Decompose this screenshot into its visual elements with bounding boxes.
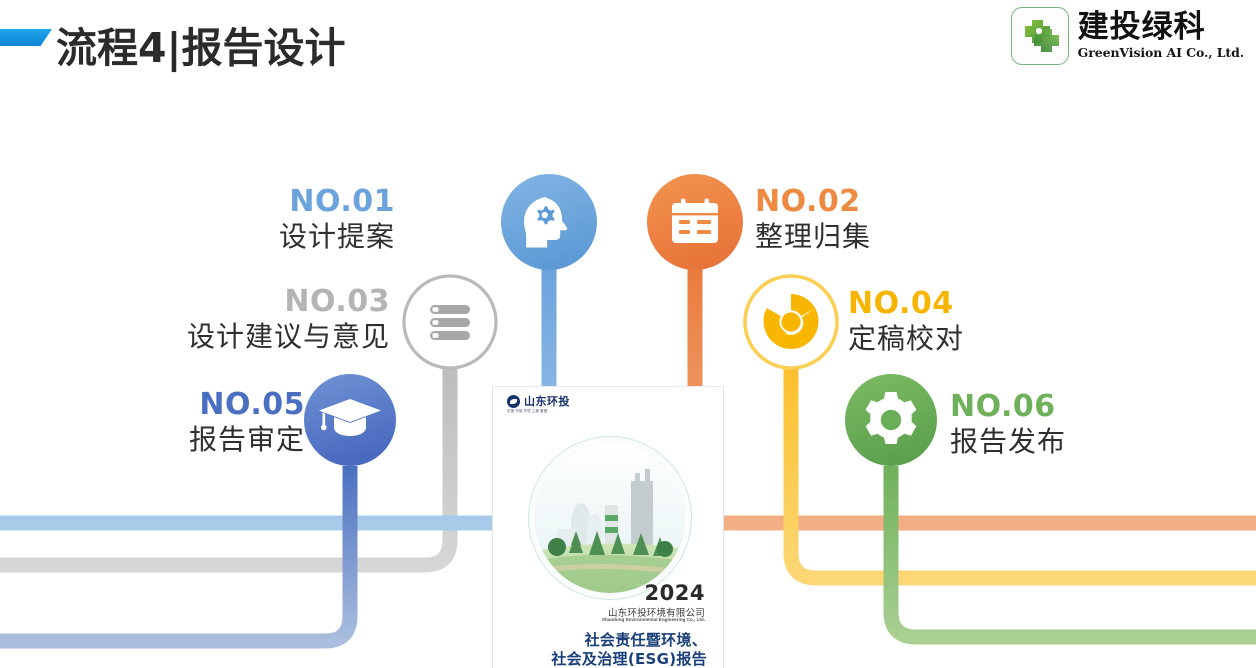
cover-illustration-art [535, 443, 685, 593]
brand-logo: 建投绿科 GreenVision AI Co., Ltd. [1011, 7, 1244, 65]
page-title: 流程4|报告设计 [56, 14, 346, 74]
node-title-no03: 设计建议与意见 [110, 320, 390, 354]
node-circle-no06[interactable] [845, 374, 937, 466]
node-label-no05: NO.05 报告审定 [125, 389, 305, 456]
cover-logo-text: 山东环投 [524, 393, 570, 409]
list-lines-icon [430, 305, 470, 340]
slide-root: 山东环投 中国 环保 环境 工程 集团 [0, 0, 1256, 668]
node-number-no04: NO.04 [848, 288, 1078, 320]
cover-company-en: Shandong Environmental Engineering Co., … [602, 617, 705, 622]
cover-logo-subtext: 中国 环保 环境 工程 集团 [507, 408, 547, 413]
node-circle-no02[interactable] [647, 174, 743, 270]
cover-company-logo: 山东环投 [507, 393, 570, 409]
node-number-no01: NO.01 [215, 186, 395, 218]
node-title-no02: 整理归集 [755, 220, 985, 254]
calendar-icon [672, 199, 718, 244]
brand-name-en: GreenVision AI Co., Ltd. [1078, 47, 1244, 60]
cover-title-line2: 社会及治理(ESG)报告 [551, 648, 707, 668]
node-number-no05: NO.05 [125, 389, 305, 421]
node-circle-no04[interactable] [745, 276, 837, 368]
slide-header: 流程4|报告设计 建 [0, 0, 1256, 90]
node-label-no01: NO.01 设计提案 [215, 186, 395, 253]
node-label-no04: NO.04 定稿校对 [848, 288, 1078, 355]
arrow-bar-icon [0, 29, 52, 46]
connector-no05 [0, 466, 350, 641]
node-title-no05: 报告审定 [125, 423, 305, 457]
node-circle-no01[interactable] [501, 174, 597, 270]
cover-year: 2024 [645, 581, 705, 605]
node-label-no03: NO.03 设计建议与意见 [110, 286, 390, 353]
report-cover-image: 山东环投 中国 环保 环境 工程 集团 [492, 386, 724, 668]
cover-logo-badge-icon [507, 395, 520, 408]
node-number-no06: NO.06 [950, 391, 1180, 423]
node-circle-no03[interactable] [404, 276, 496, 368]
greenvision-cross-logo-icon [1011, 7, 1069, 65]
node-title-no04: 定稿校对 [848, 322, 1078, 356]
node-title-no06: 报告发布 [950, 425, 1180, 459]
cover-illustration-circle [535, 443, 685, 593]
brand-name-cn: 建投绿科 [1078, 12, 1244, 43]
node-title-no01: 设计提案 [215, 220, 395, 254]
node-number-no02: NO.02 [755, 186, 985, 218]
node-label-no06: NO.06 报告发布 [950, 391, 1180, 458]
brand-text: 建投绿科 GreenVision AI Co., Ltd. [1078, 12, 1244, 60]
node-number-no03: NO.03 [110, 286, 390, 318]
node-label-no02: NO.02 整理归集 [755, 186, 985, 253]
connector-no06 [891, 466, 1256, 637]
cover-title-line1: 社会责任暨环境、 [585, 629, 707, 650]
node-circle-no05[interactable] [304, 374, 396, 466]
